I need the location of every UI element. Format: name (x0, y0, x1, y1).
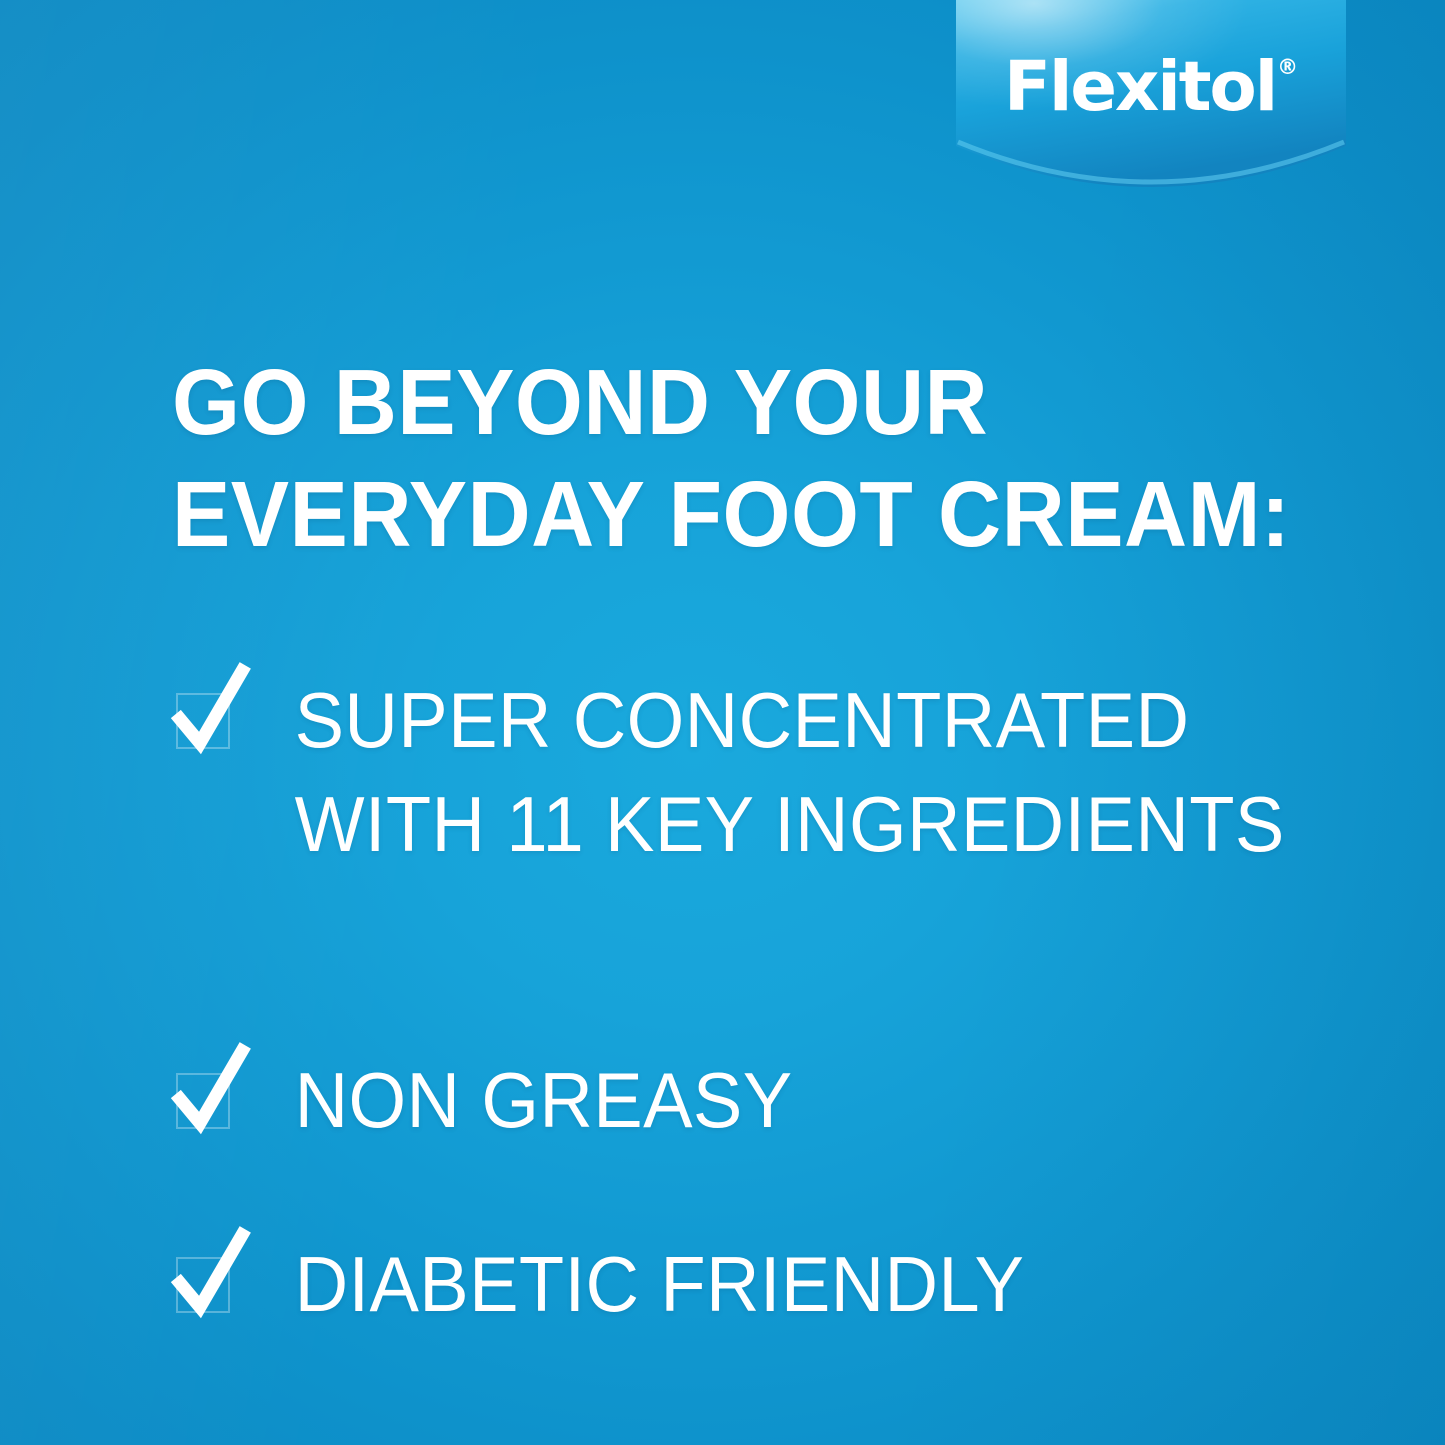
feature-text-1-line-2: WITH 11 KEY INGREDIENTS (295, 772, 1315, 876)
list-item: SUPER CONCENTRATED WITH 11 KEY INGREDIEN… (172, 668, 1372, 876)
checkbox-checked (172, 693, 230, 753)
headline: GO BEYOND YOUR EVERYDAY FOOT CREAM: (172, 346, 1352, 570)
headline-line-1: GO BEYOND YOUR (172, 346, 1281, 458)
list-item: NON GREASY (172, 1048, 1372, 1152)
feature-list: SUPER CONCENTRATED WITH 11 KEY INGREDIEN… (172, 668, 1372, 1336)
headline-line-2: EVERYDAY FOOT CREAM: (172, 458, 1281, 570)
feature-text-3: DIABETIC FRIENDLY (230, 1232, 1315, 1336)
checkbox-checked (172, 1073, 230, 1133)
feature-text-1-line-1: SUPER CONCENTRATED (295, 668, 1315, 772)
feature-text-2: NON GREASY (230, 1048, 1315, 1152)
feature-text-2-line-1: NON GREASY (295, 1048, 1315, 1152)
product-feature-poster: Flexitol® GO BEYOND YOUR EVERYDAY FOOT C… (0, 0, 1445, 1445)
feature-text-3-line-1: DIABETIC FRIENDLY (295, 1232, 1315, 1336)
feature-text-1: SUPER CONCENTRATED WITH 11 KEY INGREDIEN… (230, 668, 1315, 876)
checkbox-checked (172, 1257, 230, 1317)
brand-shield-icon (956, 0, 1346, 204)
list-item: DIABETIC FRIENDLY (172, 1232, 1372, 1336)
